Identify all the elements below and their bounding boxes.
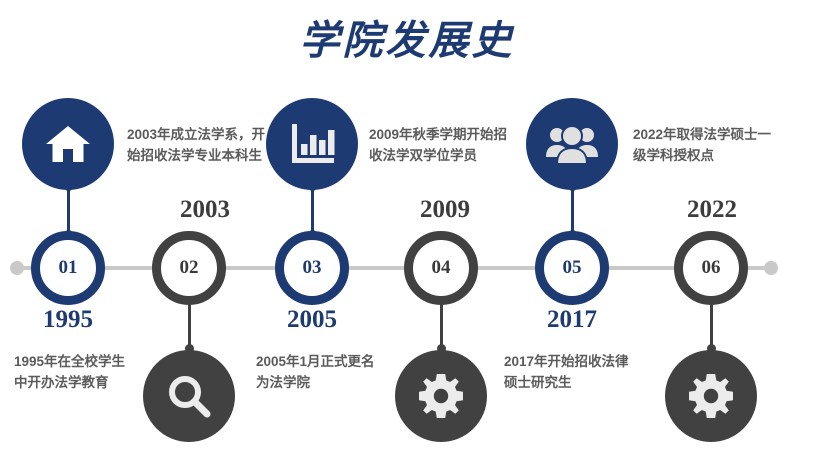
node-02-description: 2003年成立法学系，开始招收法学专业本科生 <box>127 125 267 167</box>
node-04-icon-bubble[interactable] <box>395 350 487 442</box>
node-03-stem <box>311 186 314 234</box>
node-04-description: 2009年秋季学期开始招收法学双学位学员 <box>369 125 517 167</box>
timeline-infographic: 学院发展史 01 1995 1995年在全校学生中开办法学教育 2003年成立法… <box>0 0 814 462</box>
timeline-node-03[interactable]: 03 <box>275 231 349 305</box>
timeline-node-01[interactable]: 01 <box>31 231 105 305</box>
timeline-node-04[interactable]: 04 <box>404 231 478 305</box>
timeline-start-dot <box>10 261 24 275</box>
node-01-description: 1995年在全校学生中开办法学教育 <box>14 352 126 394</box>
node-03-icon-bubble[interactable] <box>266 98 358 190</box>
node-06-year: 2022 <box>657 196 767 224</box>
node-02-year: 2003 <box>150 196 260 224</box>
timeline-node-05[interactable]: 05 <box>535 231 609 305</box>
timeline-node-02[interactable]: 02 <box>152 231 226 305</box>
node-06-icon-bubble[interactable] <box>665 350 757 442</box>
gear-icon <box>419 374 463 418</box>
node-01-year: 1995 <box>8 306 128 334</box>
node-03-year: 2005 <box>252 306 372 334</box>
bar-chart-icon <box>288 122 336 166</box>
node-05-icon-bubble[interactable] <box>526 98 618 190</box>
node-01-icon-bubble[interactable] <box>22 98 114 190</box>
node-06-description: 2022年取得法学硕士一级学科授权点 <box>633 125 781 167</box>
timeline-node-06[interactable]: 06 <box>674 231 748 305</box>
node-05-year: 2017 <box>512 306 632 334</box>
node-05-stem <box>571 186 574 234</box>
node-06-stem <box>710 300 713 348</box>
timeline-spine <box>15 266 775 270</box>
people-icon <box>546 124 598 164</box>
node-02-stem <box>188 300 191 348</box>
node-04-stem <box>440 300 443 348</box>
home-icon <box>45 123 91 165</box>
timeline-end-dot <box>764 261 778 275</box>
search-icon <box>166 373 212 419</box>
gear-icon <box>689 374 733 418</box>
node-04-year: 2009 <box>390 196 500 224</box>
node-05-description: 2017年开始招收法律硕士研究生 <box>504 352 636 394</box>
node-03-description: 2005年1月正式更名为法学院 <box>256 352 388 394</box>
node-02-icon-bubble[interactable] <box>143 350 235 442</box>
node-01-stem <box>67 186 70 234</box>
page-title: 学院发展史 <box>0 8 814 66</box>
